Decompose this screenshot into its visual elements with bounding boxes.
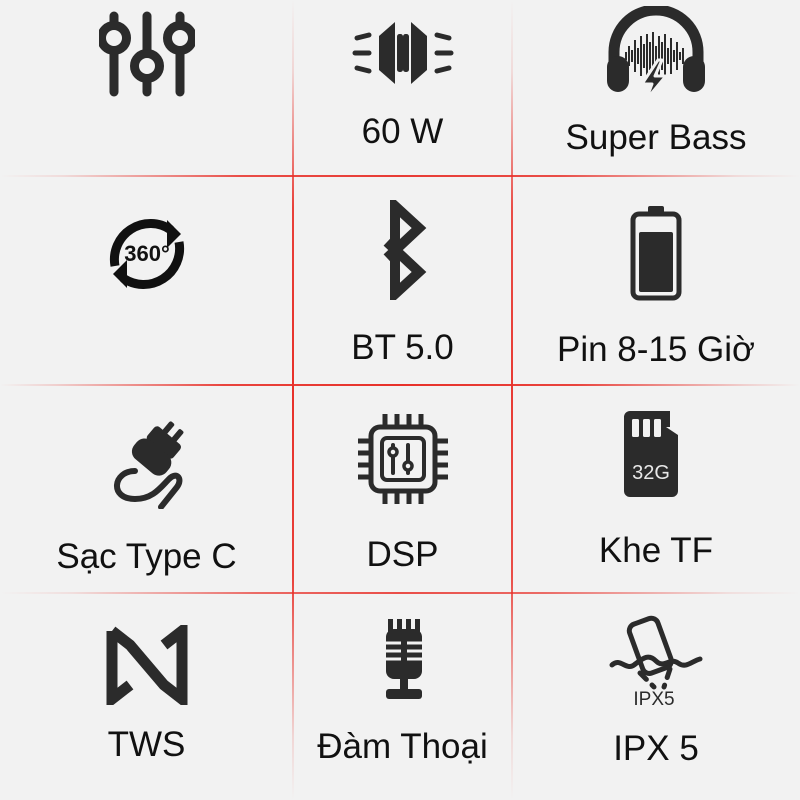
feature-cell-equalizer xyxy=(0,0,293,176)
feature-label-battery: Pin 8-15 Giờ xyxy=(557,332,755,367)
bluetooth-icon xyxy=(293,176,512,300)
cpu-chip-sliders-icon xyxy=(293,385,512,507)
spec-feature-grid: 60 W xyxy=(0,0,800,800)
feature-cell-tws: TWS xyxy=(0,593,293,800)
feature-label-charging: Sạc Type C xyxy=(56,539,236,574)
headphones-bass-waveform-icon xyxy=(512,0,800,98)
feature-label-tws: TWS xyxy=(108,727,186,762)
battery-icon xyxy=(512,176,800,302)
feature-cell-battery: Pin 8-15 Giờ xyxy=(512,176,800,385)
retro-microphone-icon xyxy=(293,593,512,707)
feature-cell-tf-slot: 32G Khe TF xyxy=(512,385,800,593)
feature-label-waterproof: IPX 5 xyxy=(613,731,699,766)
feature-label-power: 60 W xyxy=(362,114,444,149)
microsd-memory-card-icon: 32G xyxy=(512,385,800,503)
feature-label-dsp: DSP xyxy=(367,537,439,572)
rotate-360-degrees-icon: 360° xyxy=(0,176,293,304)
feature-cell-charging: Sạc Type C xyxy=(0,385,293,593)
feature-cell-power: 60 W xyxy=(293,0,512,176)
feature-cell-dsp: DSP xyxy=(293,385,512,593)
feature-cell-call: Đàm Thoại xyxy=(293,593,512,800)
feature-label-bluetooth: BT 5.0 xyxy=(351,330,453,365)
waterproof-rating-icon-text: IPX5 xyxy=(633,689,674,709)
feature-cell-waterproof: IPX5 IPX 5 xyxy=(512,593,800,800)
rotate-360-icon-text: 360° xyxy=(124,241,170,266)
waterproof-device-in-water-icon: IPX5 xyxy=(512,593,800,709)
microsd-capacity-icon-text: 32G xyxy=(632,462,670,484)
feature-cell-super-bass: Super Bass xyxy=(512,0,800,176)
usb-type-c-cable-plug-icon xyxy=(0,385,293,509)
feature-label-tf-slot: Khe TF xyxy=(599,533,713,568)
equalizer-sliders-icon xyxy=(0,0,293,100)
feature-label-super-bass: Super Bass xyxy=(566,120,747,155)
tws-pairing-nfc-n-icon xyxy=(0,593,293,705)
feature-cell-bluetooth: BT 5.0 xyxy=(293,176,512,385)
feature-label-call: Đàm Thoại xyxy=(317,729,488,764)
feature-cell-surround-360: 360° xyxy=(0,176,293,385)
dual-speaker-output-icon xyxy=(293,0,512,92)
